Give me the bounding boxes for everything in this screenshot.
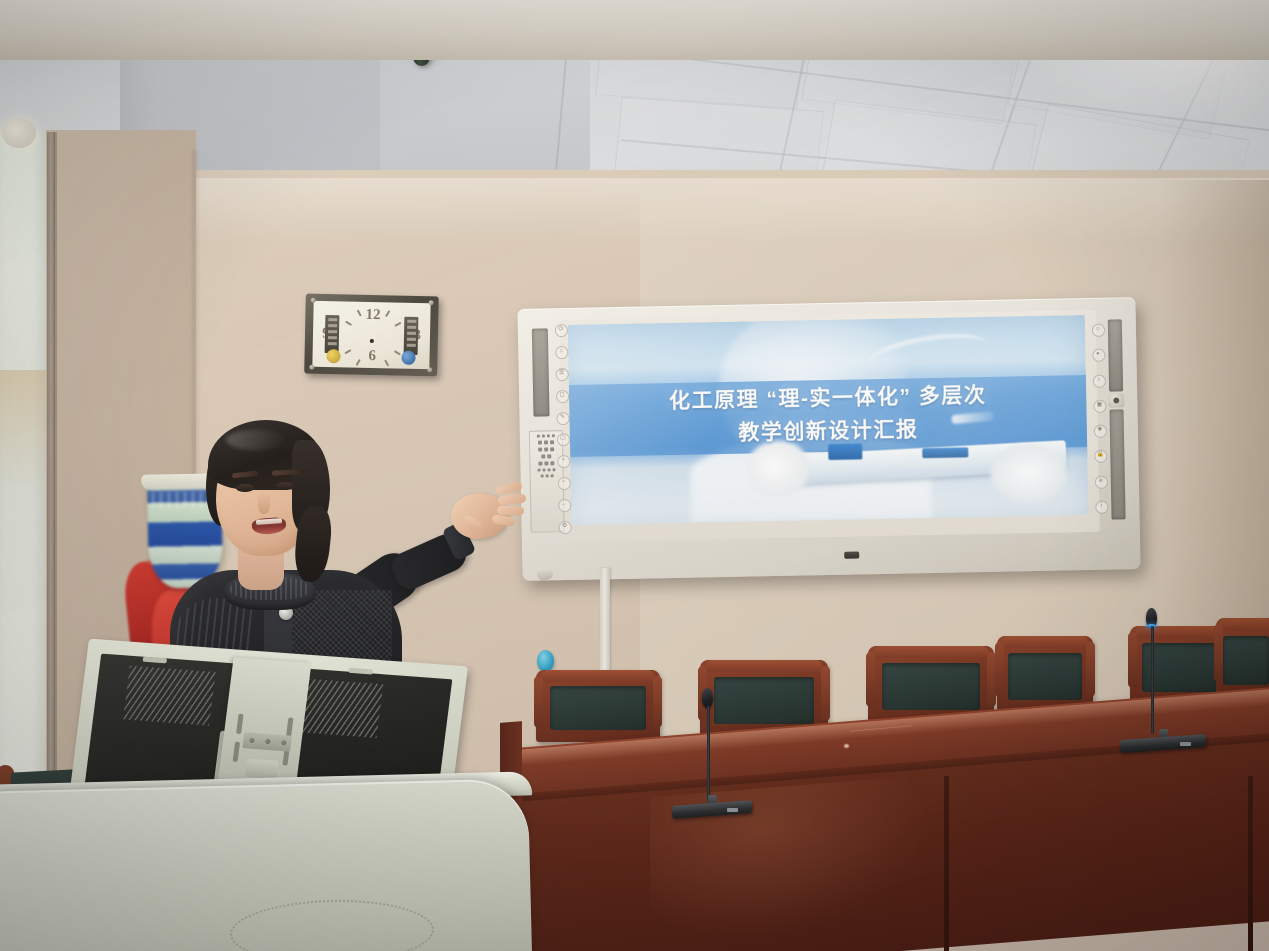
- chair-crest: [1001, 636, 1089, 648]
- clock-screw: [309, 365, 314, 370]
- presenter-finger: [497, 506, 524, 516]
- microphone-base-indicator: [1180, 742, 1191, 746]
- usb-icon[interactable]: ⎈: [1094, 475, 1107, 488]
- chair-crest: [541, 670, 655, 682]
- ir-receiver-icon: [844, 551, 859, 558]
- screenshot-icon[interactable]: ▣: [1093, 400, 1106, 413]
- conference-microphone-right[interactable]: [1120, 608, 1206, 750]
- clock-numeral-6: 6: [368, 348, 376, 365]
- interactive-smartboard[interactable]: 化工原理 “理-实一体化” 多层次 教学创新设计汇报 ⏻ ⌂ ☰ ◻ ✎ ▢ +…: [517, 297, 1140, 581]
- chair-arm: [995, 642, 1004, 697]
- freeze-icon[interactable]: ✺: [1093, 425, 1106, 438]
- slide-photo-hand-right: [990, 443, 1067, 502]
- pen-icon[interactable]: ✎: [556, 411, 569, 424]
- presenter-eye-right: [276, 482, 294, 490]
- settings-icon[interactable]: ⚙: [558, 521, 571, 534]
- monitor-vent: [123, 666, 216, 726]
- smartboard-right-speaker-grille-bottom: [1109, 409, 1125, 519]
- back-icon[interactable]: ←: [558, 499, 571, 512]
- chair-crest: [873, 646, 989, 658]
- chair-4[interactable]: [997, 636, 1093, 712]
- presenter-nose: [258, 492, 270, 514]
- chair-pad: [1223, 636, 1269, 686]
- smartboard-screen[interactable]: 化工原理 “理-实一体化” 多层次 教学创新设计汇报: [568, 315, 1089, 525]
- lock-icon[interactable]: 🔒: [1094, 450, 1107, 463]
- chair-arm: [1214, 624, 1223, 682]
- clock-gold-sticker-icon: [326, 349, 340, 363]
- chair-crest: [1218, 618, 1269, 631]
- clock-screw: [429, 300, 434, 305]
- clock-numeral-12: 12: [365, 307, 380, 324]
- clock-screw: [311, 298, 316, 303]
- chair-arm: [1086, 642, 1095, 697]
- chair-pad: [882, 663, 980, 710]
- power-icon[interactable]: ⏻: [554, 324, 567, 337]
- menu-icon[interactable]: ☰: [555, 368, 568, 381]
- presenter-eye-left: [236, 484, 254, 492]
- clock-blue-sticker-icon: [401, 351, 415, 365]
- window-tint: [0, 370, 46, 490]
- table-panel-seam: [1248, 776, 1253, 951]
- volume-down-icon[interactable]: −: [557, 477, 570, 490]
- chair-6[interactable]: [1216, 618, 1269, 698]
- ceiling-corner-light-icon: [2, 118, 36, 148]
- clock-center-pin: [369, 339, 373, 343]
- smartboard-left-speaker-grille: [532, 328, 550, 416]
- source-icon[interactable]: ◻: [556, 390, 569, 403]
- chair-arm: [653, 676, 662, 728]
- clock-face: 12 3 6 9: [312, 301, 430, 369]
- chair-pad: [550, 686, 647, 731]
- monitor-stand-foot: [245, 759, 279, 779]
- chair-pad: [1008, 653, 1083, 700]
- brightness-icon[interactable]: ☼: [1091, 324, 1104, 337]
- clock-right-display: [404, 317, 419, 355]
- ceiling-wall-beam: [0, 0, 1269, 60]
- conference-table-area: [500, 596, 1269, 951]
- clock-left-display: [325, 315, 340, 353]
- microphone-head-icon: [702, 688, 713, 708]
- slide-photo-instrument-blue-2: [922, 447, 968, 458]
- eraser-icon[interactable]: ▢: [556, 433, 569, 446]
- chair-crest: [705, 660, 823, 672]
- info-icon[interactable]: i: [1095, 501, 1108, 514]
- volume-up-icon[interactable]: +: [557, 455, 570, 468]
- clock-screw: [427, 367, 432, 372]
- classroom-photo: 12 3 6 9: [0, 0, 1269, 951]
- chair-arm: [534, 676, 543, 728]
- wall-clock: 12 3 6 9: [304, 294, 439, 377]
- presenter-hair-sheen: [226, 430, 286, 450]
- table-reflection-dot: [844, 744, 849, 748]
- microphone-gooseneck: [1151, 626, 1154, 734]
- table-panel-seam: [944, 776, 949, 951]
- chair-1[interactable]: [536, 670, 660, 742]
- chair-arm: [866, 652, 875, 707]
- home-icon[interactable]: ⌂: [555, 346, 568, 359]
- mute-icon[interactable]: ♪: [1092, 374, 1105, 387]
- slide-title: 化工原理 “理-实一体化” 多层次 教学创新设计汇报: [569, 377, 1087, 453]
- chair-arm: [821, 666, 830, 721]
- input-icon[interactable]: ▸: [1092, 349, 1105, 362]
- conference-microphone-left[interactable]: [672, 688, 752, 816]
- microphone-gooseneck: [707, 706, 710, 802]
- microphone-base-indicator: [727, 808, 738, 812]
- smartboard-right-speaker-grille-top: [1108, 319, 1123, 391]
